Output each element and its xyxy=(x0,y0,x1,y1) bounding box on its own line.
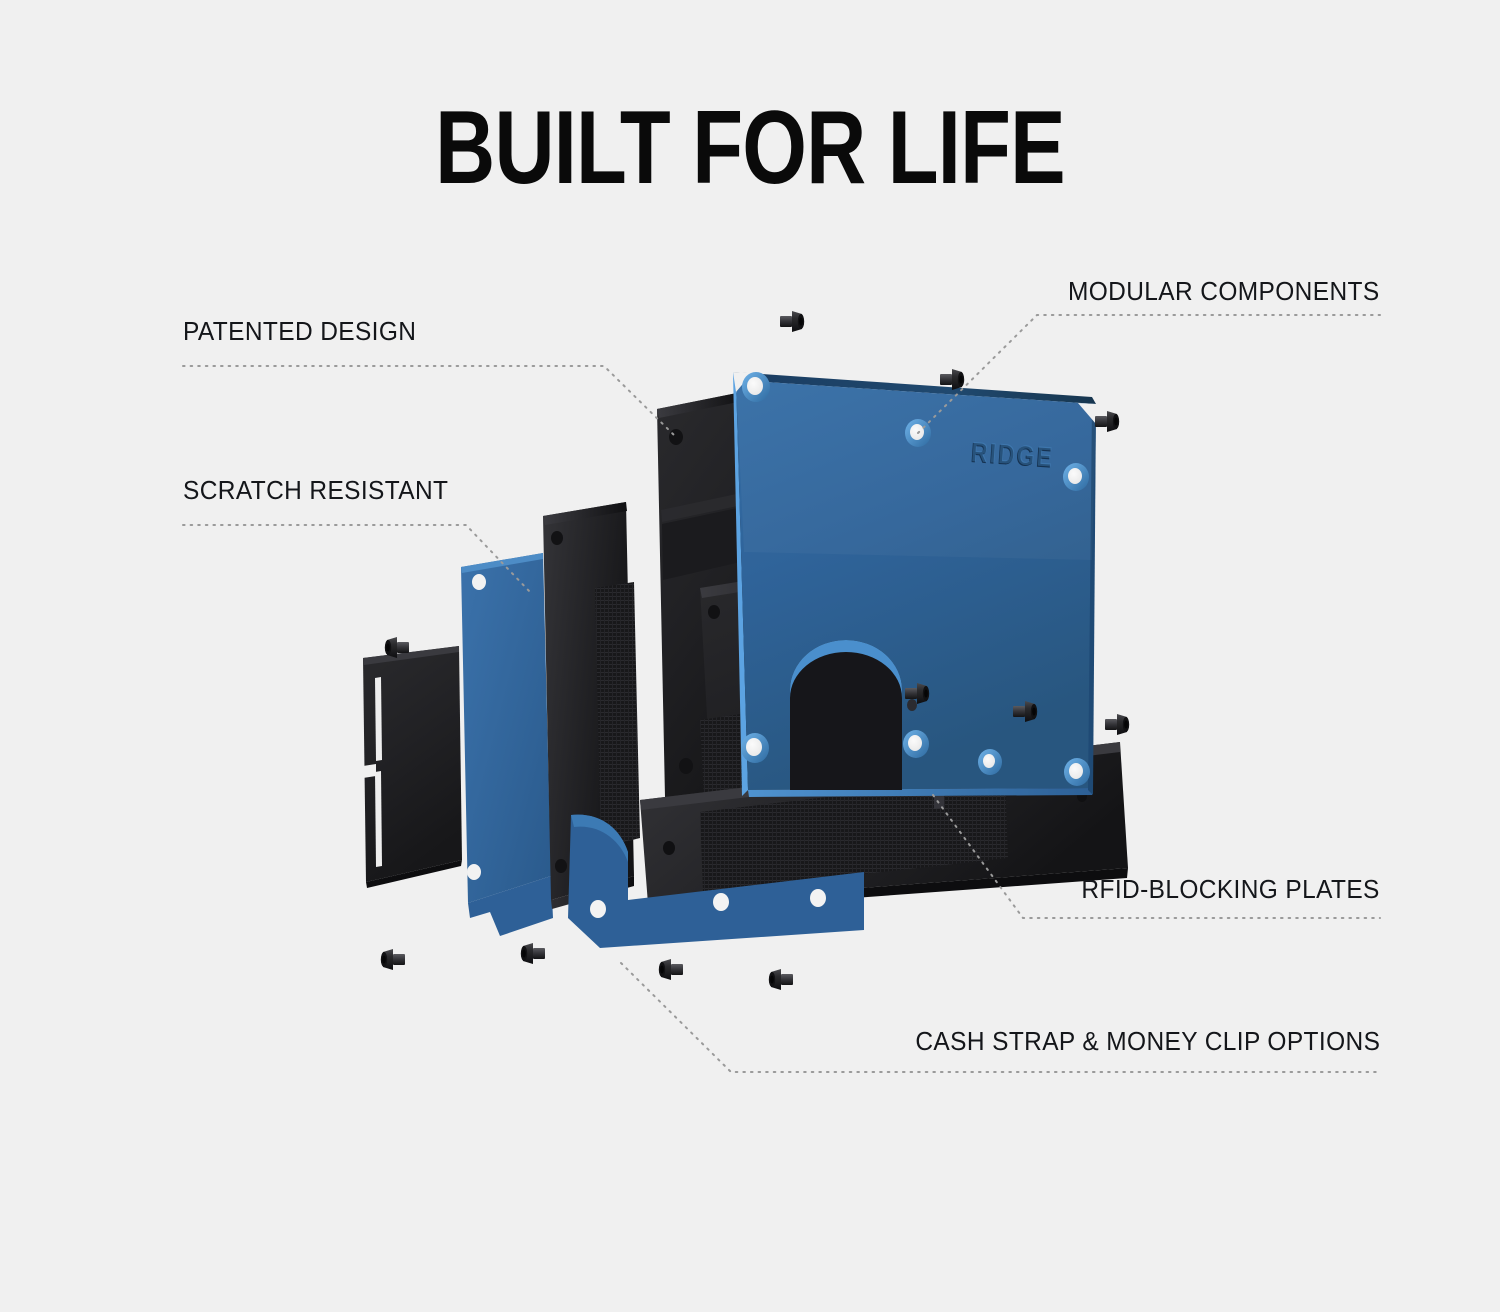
screw xyxy=(1095,411,1119,432)
hero-banner: BUILT FOR LIFE xyxy=(0,0,1500,1312)
callout-label-rfid-blocking: RFID-BLOCKING PLATES xyxy=(1082,876,1380,905)
blue-front-plate xyxy=(733,372,1096,797)
callout-label-cash-strap: CASH STRAP & MONEY CLIP OPTIONS xyxy=(915,1028,1380,1057)
callout-label-scratch-resistant: SCRATCH RESISTANT xyxy=(183,477,448,506)
blue-back-plate xyxy=(461,553,553,936)
screw xyxy=(780,311,804,332)
exploded-wallet-illustration: RIDGE RIDGE xyxy=(0,0,1500,1312)
screw xyxy=(769,969,793,990)
screw xyxy=(381,949,405,970)
screw xyxy=(1105,714,1129,735)
screw xyxy=(521,943,545,964)
money-clip-plate xyxy=(363,646,462,888)
callout-label-modular-components: MODULAR COMPONENTS xyxy=(1068,278,1380,307)
svg-text:RIDGE: RIDGE xyxy=(970,437,1055,473)
callout-label-patented-design: PATENTED DESIGN xyxy=(183,318,416,347)
screw xyxy=(659,959,683,980)
ridge-brand-mark: RIDGE RIDGE xyxy=(970,437,1056,474)
